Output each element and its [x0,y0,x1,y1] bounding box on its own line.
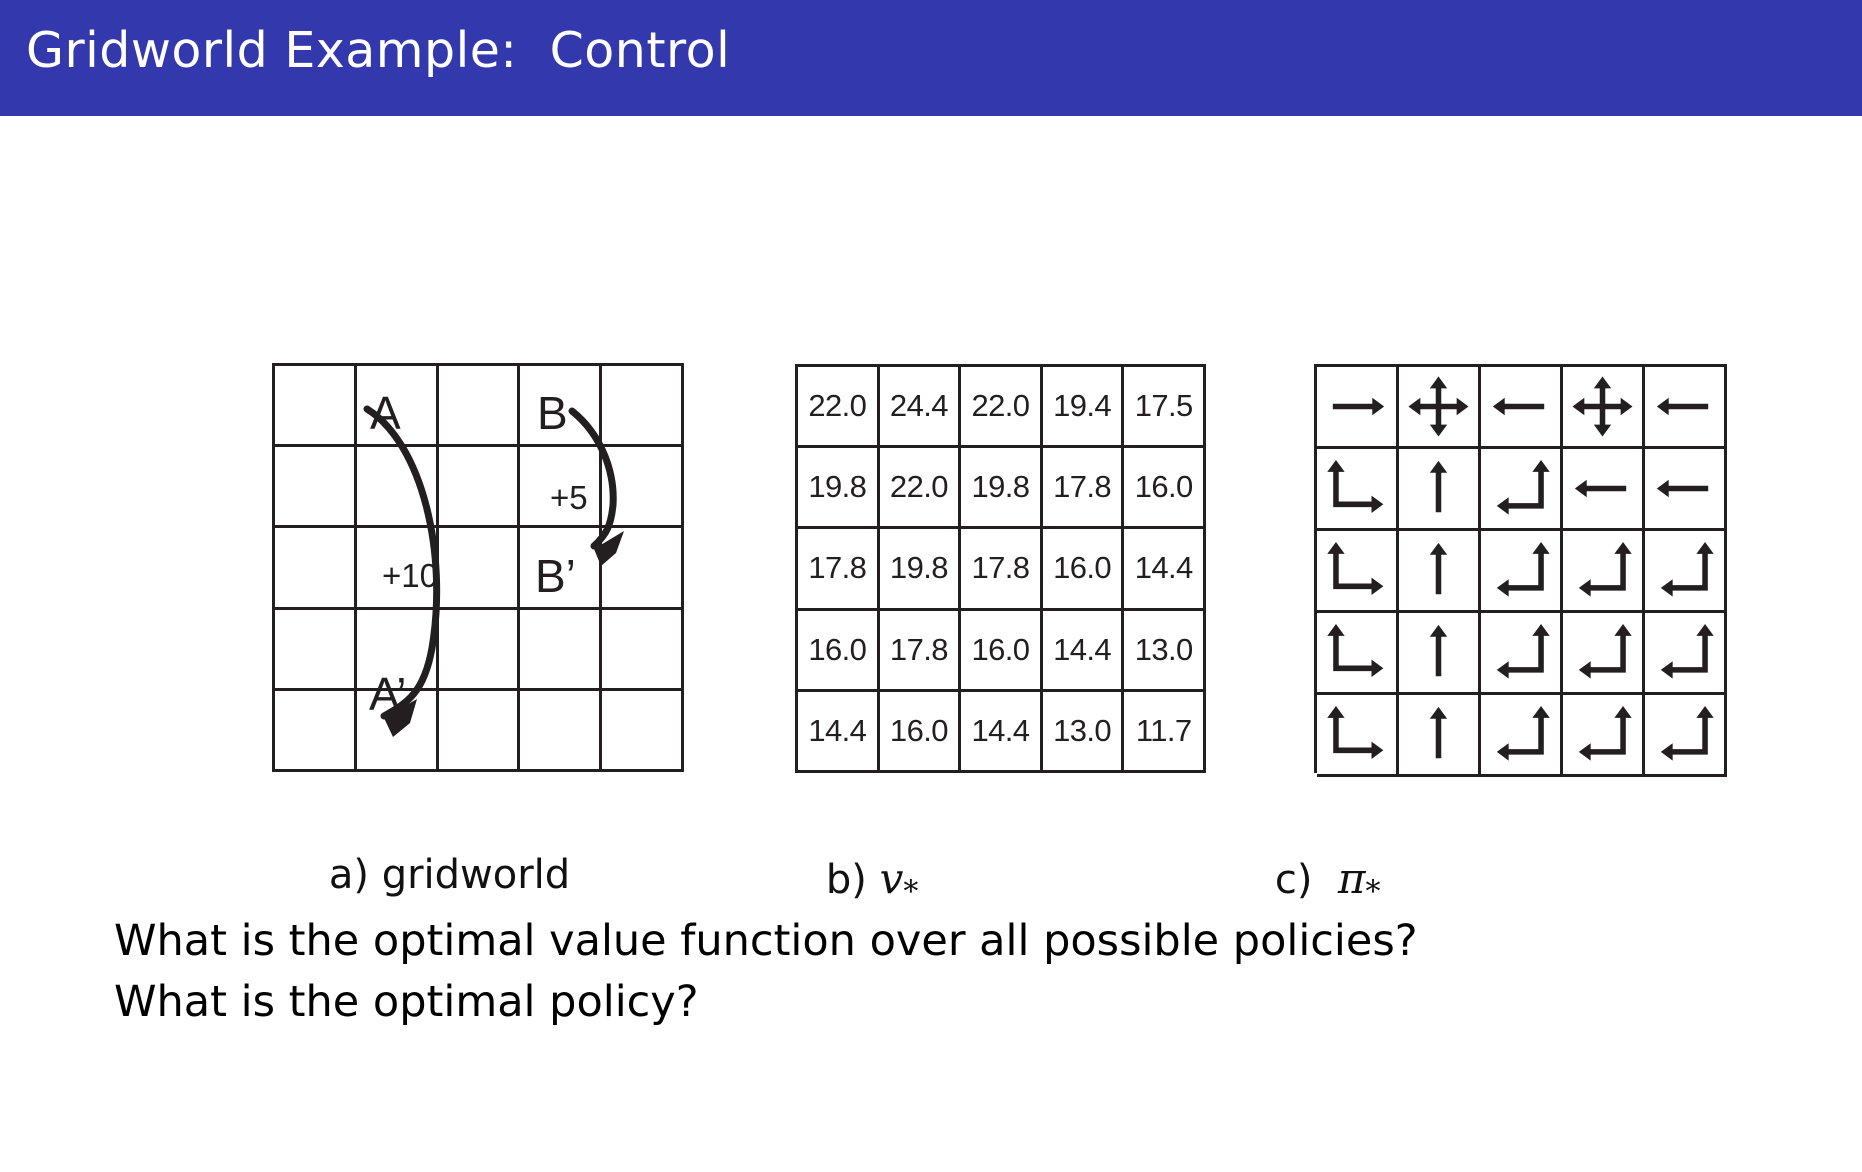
policy-arrow-up-left-icon [1645,695,1724,774]
slide-title-bar: Gridworld Example: Control [0,0,1862,116]
policy-arrow-left-icon [1481,367,1560,446]
value-cell: 16.0 [1124,448,1206,529]
gridworld-reward-plus5: +5 [550,481,588,514]
policy-arrow-up-icon [1399,695,1478,774]
policy-cell [1481,695,1563,777]
policy-arrow-left-icon [1563,449,1642,528]
policy-cell [1563,449,1645,531]
policy-cell [1645,613,1727,695]
gridworld-cell [275,610,357,691]
policy-cell [1481,449,1563,531]
question-line-2: What is the optimal policy? [114,972,1714,1033]
value-cell: 16.0 [1043,529,1125,610]
policy-cell [1399,367,1481,449]
gridworld-cell [439,366,521,447]
caption-a-label: gridworld [382,852,570,898]
policy-cell [1645,695,1727,777]
value-cell: 19.4 [1043,367,1125,448]
value-cell: 19.8 [880,529,962,610]
value-cell: 14.4 [798,692,880,773]
policy-cell [1481,531,1563,613]
value-cell: 14.4 [961,692,1043,773]
gridworld-panel: A B B’ A’ +10 +5 [272,363,684,772]
policy-arrow-up-right-icon [1317,531,1396,610]
policy-cell [1563,367,1645,449]
policy-grid [1314,364,1727,773]
policy-cell [1317,531,1399,613]
policy-arrow-up-left-icon [1481,449,1560,528]
value-cell: 16.0 [880,692,962,773]
value-cell: 14.4 [1043,611,1125,692]
policy-cell [1317,449,1399,531]
policy-arrow-right-icon [1317,367,1396,446]
policy-cell [1317,613,1399,695]
policy-arrow-up-left-icon [1563,531,1642,610]
gridworld-cell [275,691,357,772]
policy-cell [1399,695,1481,777]
policy-cell [1563,613,1645,695]
value-cell: 14.4 [1124,529,1206,610]
value-cell: 13.0 [1124,611,1206,692]
value-function-panel: 22.0 24.4 22.0 19.4 17.5 19.8 22.0 19.8 … [795,364,1206,773]
value-cell: 19.8 [961,448,1043,529]
gridworld-label-A: A [370,390,401,436]
gridworld-cell [439,447,521,528]
gridworld-cell [275,528,357,609]
policy-cell [1645,367,1727,449]
caption-c-space [1312,857,1337,903]
figure-container: A B B’ A’ +10 +5 22.0 24.4 22.0 19.4 17.… [0,116,1862,1172]
policy-panel [1314,364,1727,773]
policy-arrow-up-icon [1399,613,1478,692]
caption-a-prefix: a) [329,852,369,898]
policy-arrow-up-left-icon [1563,695,1642,774]
policy-cell [1563,695,1645,777]
question-line-1: What is the optimal value function over … [114,911,1714,972]
value-cell: 22.0 [880,448,962,529]
gridworld-cell [439,528,521,609]
policy-arrow-all-icon [1399,367,1478,446]
value-cell: 16.0 [798,611,880,692]
policy-arrow-left-icon [1645,367,1724,446]
value-cell: 11.7 [1124,692,1206,773]
policy-cell [1481,613,1563,695]
gridworld-cell [275,366,357,447]
policy-cell [1317,695,1399,777]
gridworld-cell [602,610,684,691]
policy-arrow-all-icon [1563,367,1642,446]
policy-cell [1481,367,1563,449]
policy-arrow-up-icon [1399,449,1478,528]
gridworld-reward-plus10: +10 [382,559,438,592]
gridworld-label-A-prime: A’ [369,671,407,717]
value-cell: 17.8 [798,529,880,610]
page-title: Gridworld Example: Control [26,22,730,79]
gridworld-cell [602,528,684,609]
policy-cell [1563,531,1645,613]
caption-c-prefix: c) [1275,857,1313,903]
value-cell: 17.8 [961,529,1043,610]
value-cell: 22.0 [798,367,880,448]
policy-arrow-up-left-icon [1563,613,1642,692]
gridworld-cell [357,447,439,528]
policy-arrow-up-right-icon [1317,613,1396,692]
policy-arrow-up-icon [1399,531,1478,610]
policy-cell [1645,449,1727,531]
caption-b-symbol: v [880,854,904,903]
policy-cell [1317,367,1399,449]
gridworld-cell [520,691,602,772]
value-cell: 22.0 [961,367,1043,448]
policy-arrow-up-right-icon [1317,695,1396,774]
value-cell: 13.0 [1043,692,1125,773]
gridworld-cell [602,366,684,447]
caption-b-space [867,857,880,903]
policy-cell [1399,613,1481,695]
policy-arrow-left-icon [1645,449,1724,528]
policy-arrow-up-left-icon [1481,695,1560,774]
value-cell: 19.8 [798,448,880,529]
gridworld-grid [272,363,684,772]
gridworld-cell [439,610,521,691]
policy-cell [1645,531,1727,613]
gridworld-label-B: B [537,390,568,436]
value-function-grid: 22.0 24.4 22.0 19.4 17.5 19.8 22.0 19.8 … [795,364,1206,773]
gridworld-cell [602,691,684,772]
caption-b-subscript: * [903,874,918,909]
caption-c-symbol: π [1338,854,1366,903]
gridworld-cell [602,447,684,528]
value-cell: 17.5 [1124,367,1206,448]
gridworld-cell [439,691,521,772]
policy-arrow-up-left-icon [1481,613,1560,692]
caption-a-space [369,852,382,898]
gridworld-label-B-prime: B’ [535,553,576,599]
caption-c-subscript: * [1366,874,1381,909]
value-cell: 24.4 [880,367,962,448]
value-cell: 16.0 [961,611,1043,692]
policy-cell [1399,531,1481,613]
policy-cell [1399,449,1481,531]
policy-arrow-up-right-icon [1317,449,1396,528]
policy-arrow-up-left-icon [1481,531,1560,610]
value-cell: 17.8 [880,611,962,692]
caption-b-prefix: b) [826,857,867,903]
gridworld-cell [275,447,357,528]
gridworld-cell [520,610,602,691]
question-block: What is the optimal value function over … [114,911,1714,1033]
value-cell: 17.8 [1043,448,1125,529]
policy-arrow-up-left-icon [1645,531,1724,610]
policy-arrow-up-left-icon [1645,613,1724,692]
